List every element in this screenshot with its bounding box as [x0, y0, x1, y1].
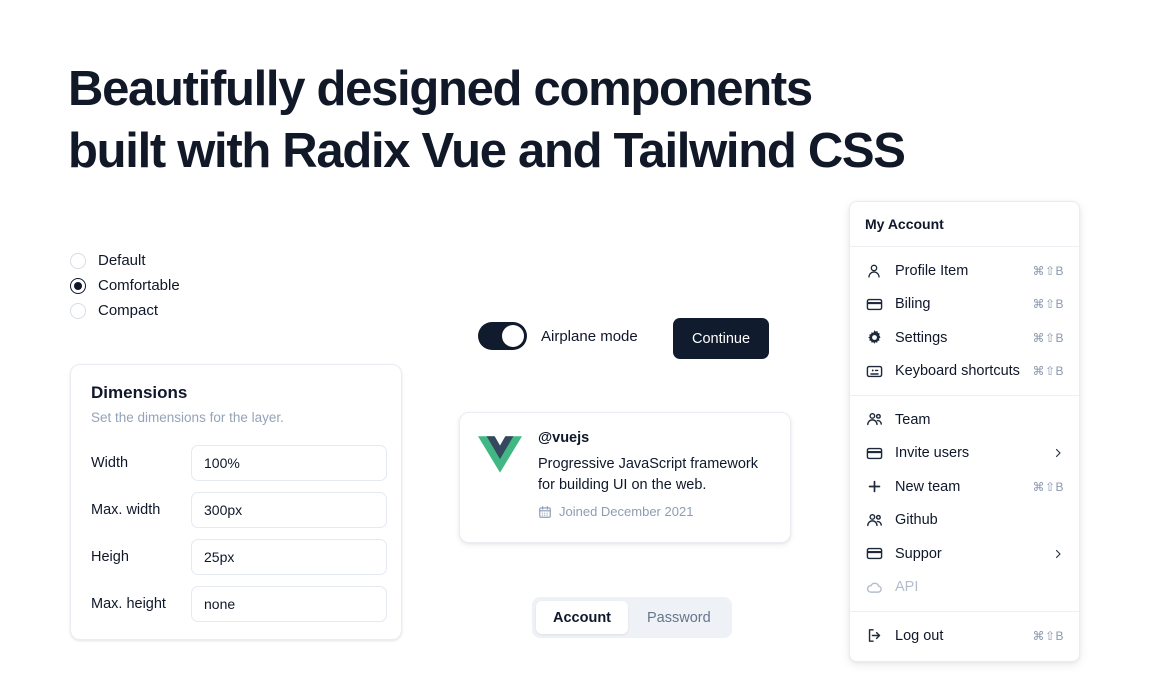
field-row-height: Heigh — [91, 533, 381, 580]
menu-item-label: New team — [895, 479, 1032, 495]
menu-item-label: Keyboard shortcuts — [895, 363, 1032, 379]
hover-card-handle: @vuejs — [538, 430, 772, 446]
dimensions-fields: Width Max. width Heigh Max. height — [91, 439, 381, 627]
hover-card-joined-text: Joined December 2021 — [559, 504, 693, 519]
menu-item-billing[interactable]: Biling ⌘⇧B — [850, 288, 1079, 322]
menu-separator — [850, 611, 1079, 612]
menu-item-label: Github — [895, 512, 1064, 528]
page-title-line-1: Beautifully designed components — [68, 58, 1028, 120]
menu-item-label: Log out — [895, 628, 1032, 644]
users-icon — [865, 411, 883, 429]
cloud-icon — [865, 578, 883, 596]
menu-item-label: Invite users — [895, 445, 1052, 461]
switch-knob — [502, 325, 524, 347]
page-title-line-2: built with Radix Vue and Tailwind CSS — [68, 120, 1028, 182]
radio-circle-checked-icon[interactable] — [70, 278, 86, 294]
menu-item-new-team[interactable]: New team ⌘⇧B — [850, 470, 1079, 504]
radio-option-comfortable[interactable]: Comfortable — [70, 273, 180, 298]
field-label: Width — [91, 455, 191, 471]
vue-logo-icon — [478, 434, 522, 478]
users-icon — [865, 511, 883, 529]
menu-item-label: Profile Item — [895, 263, 1032, 279]
gear-icon — [865, 329, 883, 347]
menu-item-profile[interactable]: Profile Item ⌘⇧B — [850, 254, 1079, 288]
max-height-input[interactable] — [191, 586, 387, 622]
menu-item-label: Biling — [895, 296, 1032, 312]
dimensions-card-title: Dimensions — [91, 383, 381, 403]
credit-card-icon — [865, 444, 883, 462]
chevron-right-icon — [1052, 548, 1064, 560]
menu-item-settings[interactable]: Settings ⌘⇧B — [850, 321, 1079, 355]
menu-header: My Account — [850, 207, 1079, 242]
dimensions-card-description: Set the dimensions for the layer. — [91, 410, 381, 425]
field-row-max-height: Max. height — [91, 580, 381, 627]
menu-item-shortcut: ⌘⇧B — [1032, 480, 1064, 494]
menu-item-label: Settings — [895, 330, 1032, 346]
dimensions-card: Dimensions Set the dimensions for the la… — [70, 364, 402, 640]
menu-item-shortcut: ⌘⇧B — [1032, 297, 1064, 311]
menu-item-shortcut: ⌘⇧B — [1032, 331, 1064, 345]
field-label: Max. width — [91, 502, 191, 518]
airplane-mode-label: Airplane mode — [541, 328, 638, 345]
hover-card-joined: Joined December 2021 — [538, 504, 772, 519]
menu-item-api: API — [850, 571, 1079, 605]
menu-item-github[interactable]: Github — [850, 504, 1079, 538]
logout-icon — [865, 627, 883, 645]
menu-item-support[interactable]: Suppor — [850, 537, 1079, 571]
airplane-mode-row: Airplane mode — [478, 322, 638, 350]
page-title: Beautifully designed components built wi… — [68, 58, 1028, 182]
radio-option-default[interactable]: Default — [70, 248, 180, 273]
menu-item-keyboard-shortcuts[interactable]: Keyboard shortcuts ⌘⇧B — [850, 355, 1079, 389]
menu-item-shortcut: ⌘⇧B — [1032, 364, 1064, 378]
menu-item-label: Suppor — [895, 546, 1052, 562]
width-input[interactable] — [191, 445, 387, 481]
credit-card-icon — [865, 295, 883, 313]
max-width-input[interactable] — [191, 492, 387, 528]
menu-item-shortcut: ⌘⇧B — [1032, 629, 1064, 643]
user-icon — [865, 262, 883, 280]
menu-separator — [850, 246, 1079, 247]
menu-item-invite-users[interactable]: Invite users — [850, 437, 1079, 471]
radio-label: Comfortable — [98, 277, 180, 294]
tab-password[interactable]: Password — [630, 601, 728, 634]
keyboard-icon — [865, 362, 883, 380]
menu-item-team[interactable]: Team — [850, 403, 1079, 437]
radio-circle-icon[interactable] — [70, 253, 86, 269]
menu-group-account: Profile Item ⌘⇧B Biling ⌘⇧B Settings ⌘⇧B — [850, 251, 1079, 391]
settings-tabs: Account Password — [532, 597, 732, 638]
plus-icon — [865, 478, 883, 496]
radio-label: Default — [98, 252, 146, 269]
menu-separator — [850, 395, 1079, 396]
calendar-icon — [538, 505, 552, 519]
app-root: Beautifully designed components built wi… — [0, 0, 1152, 700]
credit-card-icon — [865, 545, 883, 563]
airplane-mode-switch[interactable] — [478, 322, 527, 350]
radio-option-compact[interactable]: Compact — [70, 298, 180, 323]
hover-card-body: @vuejs Progressive JavaScript framework … — [538, 430, 772, 525]
field-row-max-width: Max. width — [91, 486, 381, 533]
field-label: Max. height — [91, 596, 191, 612]
account-dropdown-menu: My Account Profile Item ⌘⇧B Biling ⌘⇧B — [849, 201, 1080, 662]
menu-item-log-out[interactable]: Log out ⌘⇧B — [850, 619, 1079, 653]
field-label: Heigh — [91, 549, 191, 565]
height-input[interactable] — [191, 539, 387, 575]
radio-label: Compact — [98, 302, 158, 319]
menu-item-label: API — [895, 579, 1064, 595]
vue-hover-card: @vuejs Progressive JavaScript framework … — [459, 412, 791, 543]
tab-account[interactable]: Account — [536, 601, 628, 634]
continue-button[interactable]: Continue — [673, 318, 769, 359]
menu-group-session: Log out ⌘⇧B — [850, 616, 1079, 656]
chevron-right-icon — [1052, 447, 1064, 459]
menu-group-team: Team Invite users New team ⌘⇧B — [850, 400, 1079, 607]
hover-card-description: Progressive JavaScript framework for bui… — [538, 454, 772, 496]
menu-item-shortcut: ⌘⇧B — [1032, 264, 1064, 278]
menu-item-label: Team — [895, 412, 1064, 428]
density-radio-group: Default Comfortable Compact — [70, 248, 180, 323]
field-row-width: Width — [91, 439, 381, 486]
radio-circle-icon[interactable] — [70, 303, 86, 319]
